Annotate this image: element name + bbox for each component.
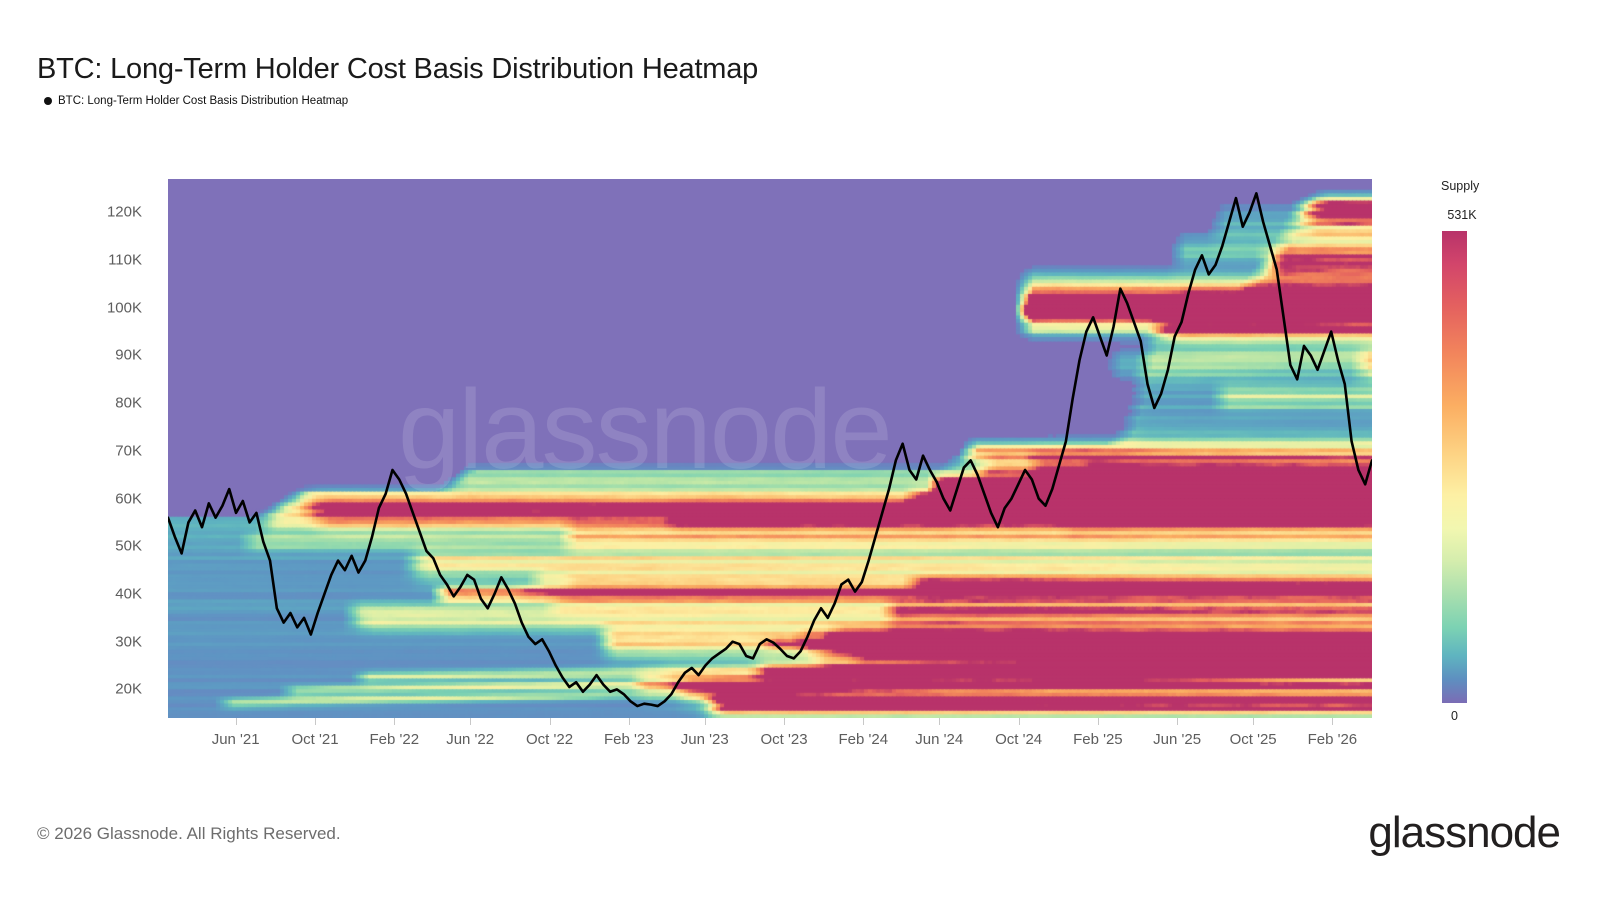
y-axis: 20K30K40K50K60K70K80K90K100K110K120K bbox=[0, 179, 160, 718]
heatmap-plot-area[interactable]: glassnode bbox=[168, 179, 1372, 718]
legend-marker-icon bbox=[44, 97, 52, 105]
x-tick-label: Feb '26 bbox=[1308, 731, 1358, 748]
colorbar-title: Supply bbox=[1441, 179, 1479, 193]
x-tick-mark bbox=[863, 718, 864, 725]
colorbar-gradient-bar bbox=[1442, 231, 1467, 703]
y-tick-label: 100K bbox=[107, 299, 142, 316]
y-tick-label: 120K bbox=[107, 204, 142, 221]
x-tick-mark bbox=[394, 718, 395, 725]
y-tick-label: 60K bbox=[115, 490, 142, 507]
y-tick-label: 70K bbox=[115, 442, 142, 459]
x-tick-label: Feb '23 bbox=[604, 731, 654, 748]
btc-price-line bbox=[168, 193, 1372, 706]
colorbar-legend[interactable]: Supply 531K 0 bbox=[1420, 179, 1570, 754]
x-tick-mark bbox=[1019, 718, 1020, 725]
y-tick-label: 80K bbox=[115, 395, 142, 412]
x-tick-label: Feb '25 bbox=[1073, 731, 1123, 748]
footer-divider bbox=[0, 786, 1600, 787]
x-axis: Jun '21Oct '21Feb '22Jun '22Oct '22Feb '… bbox=[168, 718, 1372, 773]
copyright-text: © 2026 Glassnode. All Rights Reserved. bbox=[37, 824, 341, 844]
x-tick-label: Oct '24 bbox=[995, 731, 1042, 748]
x-tick-mark bbox=[470, 718, 471, 725]
glassnode-wordmark: glassnode bbox=[1368, 808, 1560, 858]
x-tick-label: Jun '22 bbox=[446, 731, 494, 748]
x-tick-mark bbox=[705, 718, 706, 725]
x-tick-label: Jun '24 bbox=[915, 731, 963, 748]
x-tick-label: Oct '25 bbox=[1230, 731, 1277, 748]
x-tick-label: Oct '21 bbox=[291, 731, 338, 748]
x-tick-label: Jun '23 bbox=[681, 731, 729, 748]
x-tick-mark bbox=[1332, 718, 1333, 725]
x-tick-mark bbox=[1177, 718, 1178, 725]
y-tick-label: 30K bbox=[115, 633, 142, 650]
price-line-overlay bbox=[168, 179, 1372, 718]
x-tick-mark bbox=[1253, 718, 1254, 725]
x-tick-label: Jun '21 bbox=[212, 731, 260, 748]
x-tick-mark bbox=[1098, 718, 1099, 725]
colorbar-min-label: 0 bbox=[1442, 709, 1467, 723]
x-tick-mark bbox=[784, 718, 785, 725]
x-tick-mark bbox=[629, 718, 630, 725]
x-tick-label: Feb '22 bbox=[369, 731, 419, 748]
x-tick-label: Oct '22 bbox=[526, 731, 573, 748]
x-tick-mark bbox=[939, 718, 940, 725]
chart-legend[interactable]: BTC: Long-Term Holder Cost Basis Distrib… bbox=[44, 95, 348, 107]
y-tick-label: 90K bbox=[115, 347, 142, 364]
colorbar-max-label: 531K bbox=[1447, 208, 1476, 222]
y-tick-label: 110K bbox=[108, 252, 142, 269]
x-tick-label: Oct '23 bbox=[760, 731, 807, 748]
x-tick-mark bbox=[236, 718, 237, 725]
x-tick-mark bbox=[315, 718, 316, 725]
chart-page: BTC: Long-Term Holder Cost Basis Distrib… bbox=[0, 0, 1600, 900]
x-tick-label: Feb '24 bbox=[838, 731, 888, 748]
y-tick-label: 20K bbox=[115, 681, 142, 698]
page-title: BTC: Long-Term Holder Cost Basis Distrib… bbox=[37, 53, 758, 86]
y-tick-label: 50K bbox=[115, 538, 142, 555]
y-tick-label: 40K bbox=[115, 585, 142, 602]
x-tick-mark bbox=[550, 718, 551, 725]
legend-series-label: BTC: Long-Term Holder Cost Basis Distrib… bbox=[58, 95, 348, 107]
x-tick-label: Jun '25 bbox=[1153, 731, 1201, 748]
